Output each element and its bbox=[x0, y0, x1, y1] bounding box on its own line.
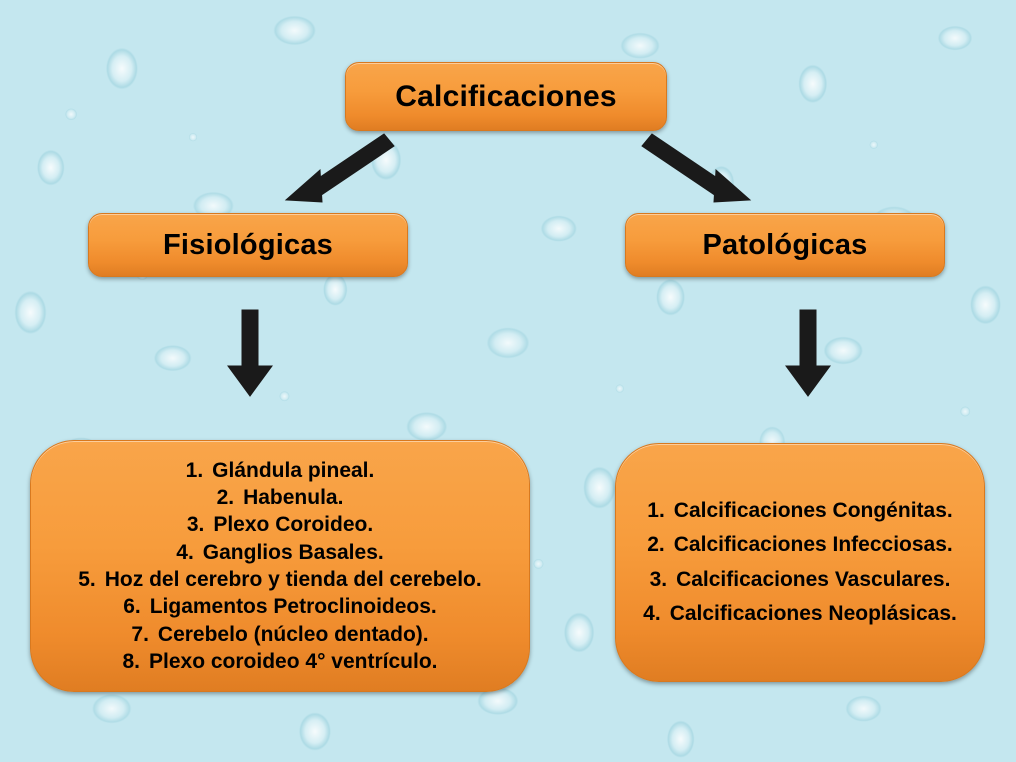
list-item: 8.Plexo coroideo 4° ventrículo. bbox=[41, 648, 519, 675]
patologicas-list-body: 1.Calcificaciones Congénitas. 2.Calcific… bbox=[616, 494, 984, 630]
list-item-text: Ligamentos Petroclinoideos. bbox=[141, 595, 437, 618]
list-item: 1.Glándula pineal. bbox=[41, 457, 519, 484]
list-item: 2.Calcificaciones Infecciosas. bbox=[626, 528, 974, 562]
node-patologicas[interactable]: Patológicas bbox=[625, 213, 945, 277]
list-item-number: 4. bbox=[176, 541, 194, 564]
node-fisiologicas-label: Fisiológicas bbox=[163, 229, 333, 262]
list-item: 3.Calcificaciones Vasculares. bbox=[626, 563, 974, 597]
list-item-number: 1. bbox=[647, 499, 665, 522]
list-item-number: 7. bbox=[131, 623, 149, 646]
node-fisiologicas-list[interactable]: 1.Glándula pineal. 2.Habenula. 3.Plexo C… bbox=[30, 440, 530, 692]
list-item-text: Plexo Coroideo. bbox=[204, 513, 373, 536]
node-fisiologicas[interactable]: Fisiológicas bbox=[88, 213, 408, 277]
list-item: 7.Cerebelo (núcleo dentado). bbox=[41, 621, 519, 648]
slide-canvas: Calcificaciones Fisiológicas Patológicas bbox=[0, 0, 1016, 762]
arrow-root-to-fisiologicas-icon bbox=[276, 130, 396, 204]
list-item: 2.Habenula. bbox=[41, 484, 519, 511]
node-calcificaciones-label: Calcificaciones bbox=[395, 80, 616, 114]
list-item-text: Glándula pineal. bbox=[203, 459, 374, 482]
list-item-text: Calcificaciones Infecciosas. bbox=[665, 533, 953, 556]
list-item-text: Plexo coroideo 4° ventrículo. bbox=[140, 650, 437, 673]
list-item-text: Habenula. bbox=[234, 486, 343, 509]
list-item: 5.Hoz del cerebro y tienda del cerebelo. bbox=[41, 566, 519, 593]
list-item-number: 1. bbox=[186, 459, 204, 482]
list-item-number: 3. bbox=[187, 513, 205, 536]
node-patologicas-label: Patológicas bbox=[703, 229, 868, 262]
node-calcificaciones[interactable]: Calcificaciones bbox=[345, 62, 667, 131]
list-item-number: 2. bbox=[217, 486, 235, 509]
arrow-patologicas-to-list-icon bbox=[780, 308, 836, 398]
list-item-text: Calcificaciones Congénitas. bbox=[665, 499, 953, 522]
list-item-number: 8. bbox=[123, 650, 141, 673]
list-item-text: Cerebelo (núcleo dentado). bbox=[149, 623, 429, 646]
list-item-text: Calcificaciones Vasculares. bbox=[667, 568, 950, 591]
list-item-number: 2. bbox=[647, 533, 665, 556]
list-item-text: Calcificaciones Neoplásicas. bbox=[661, 602, 957, 625]
list-item-number: 3. bbox=[650, 568, 668, 591]
arrow-fisiologicas-to-list-icon bbox=[222, 308, 278, 398]
list-item: 6.Ligamentos Petroclinoideos. bbox=[41, 593, 519, 620]
list-item-text: Ganglios Basales. bbox=[194, 541, 384, 564]
node-patologicas-list[interactable]: 1.Calcificaciones Congénitas. 2.Calcific… bbox=[615, 443, 985, 682]
list-item-text: Hoz del cerebro y tienda del cerebelo. bbox=[96, 568, 482, 591]
list-item: 4.Ganglios Basales. bbox=[41, 539, 519, 566]
fisiologicas-list-body: 1.Glándula pineal. 2.Habenula. 3.Plexo C… bbox=[31, 457, 529, 675]
arrow-root-to-patologicas-icon bbox=[640, 130, 760, 204]
list-item: 4.Calcificaciones Neoplásicas. bbox=[626, 597, 974, 631]
list-item-number: 4. bbox=[643, 602, 661, 625]
list-item-number: 5. bbox=[78, 568, 96, 591]
list-item: 3.Plexo Coroideo. bbox=[41, 511, 519, 538]
list-item: 1.Calcificaciones Congénitas. bbox=[626, 494, 974, 528]
list-item-number: 6. bbox=[123, 595, 141, 618]
